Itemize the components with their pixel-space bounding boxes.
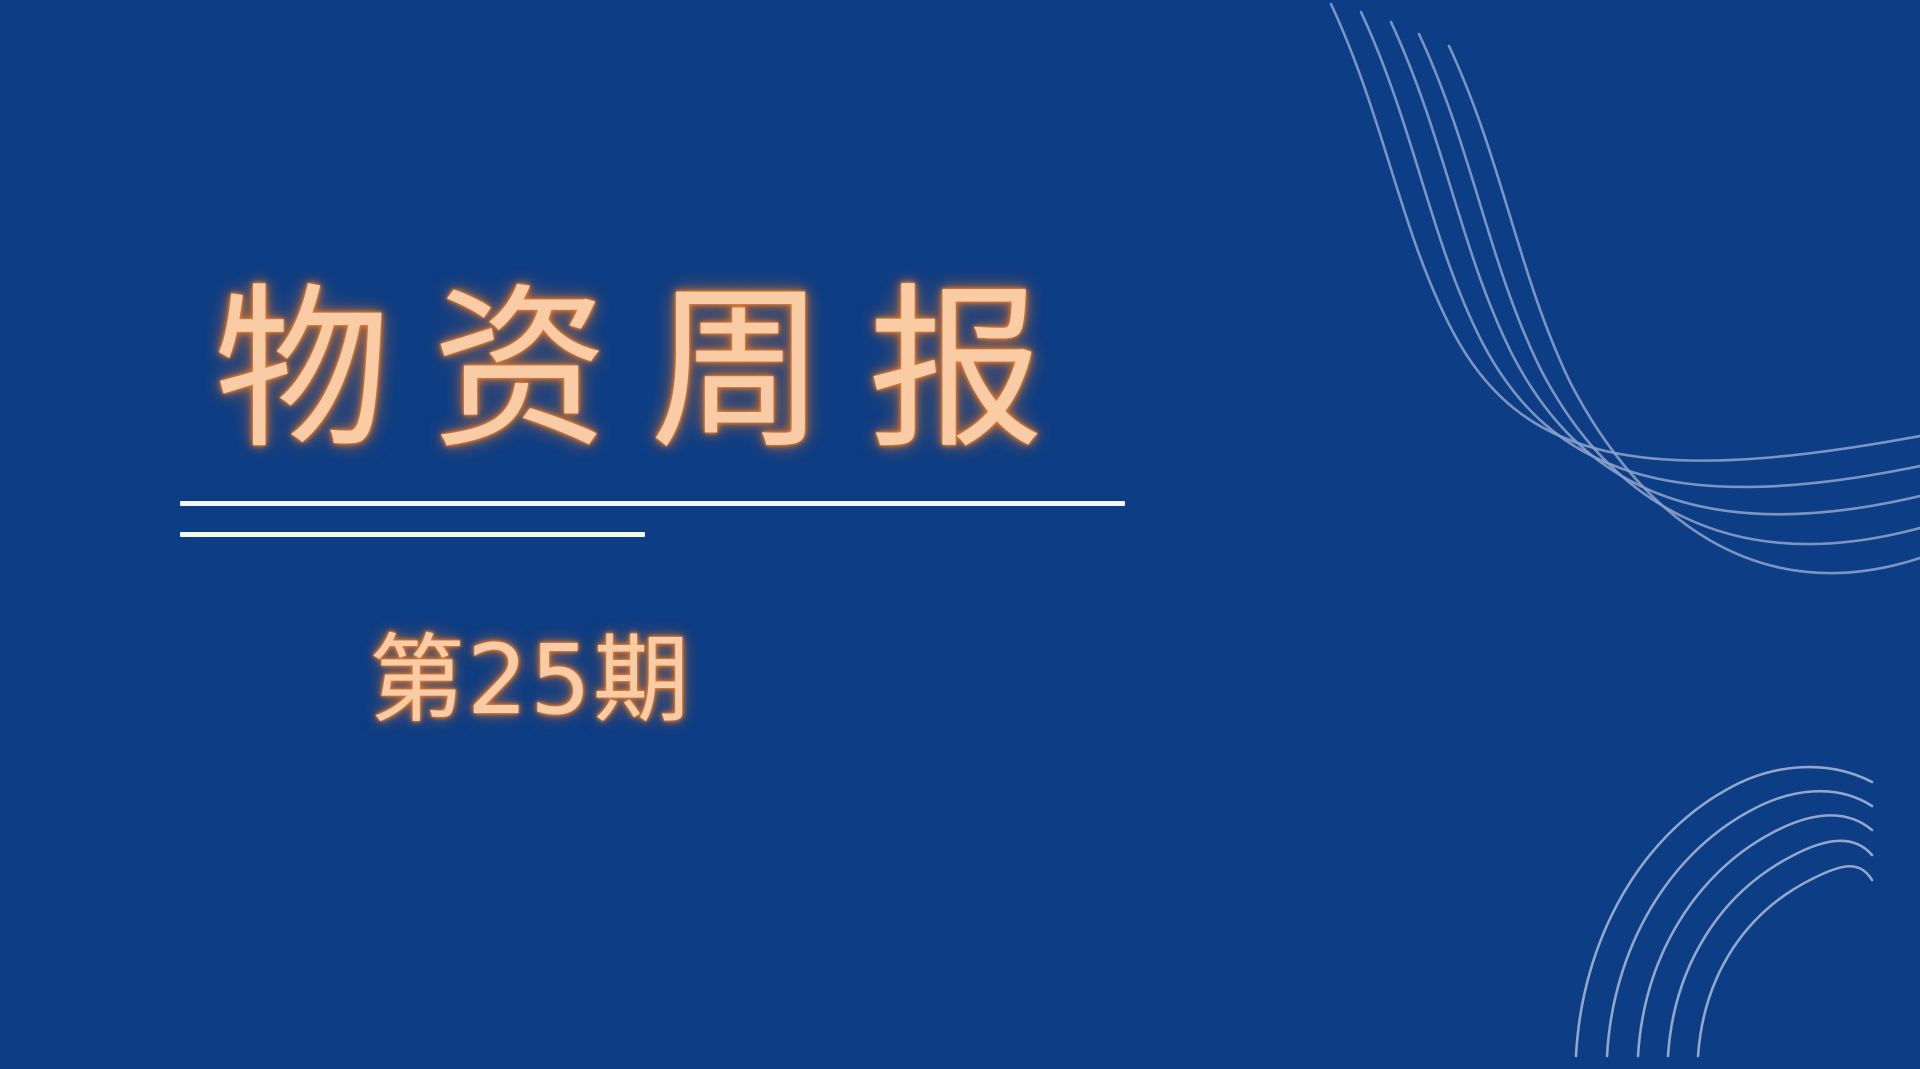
- title-underline-short: [180, 532, 645, 537]
- issue-subtitle: 第25期: [180, 628, 880, 734]
- page-title: 物资周报: [180, 278, 1340, 465]
- title-slide: 物资周报 第25期: [0, 0, 1920, 1069]
- title-underline-long: [180, 501, 1125, 506]
- title-block: 物资周报: [180, 278, 1340, 465]
